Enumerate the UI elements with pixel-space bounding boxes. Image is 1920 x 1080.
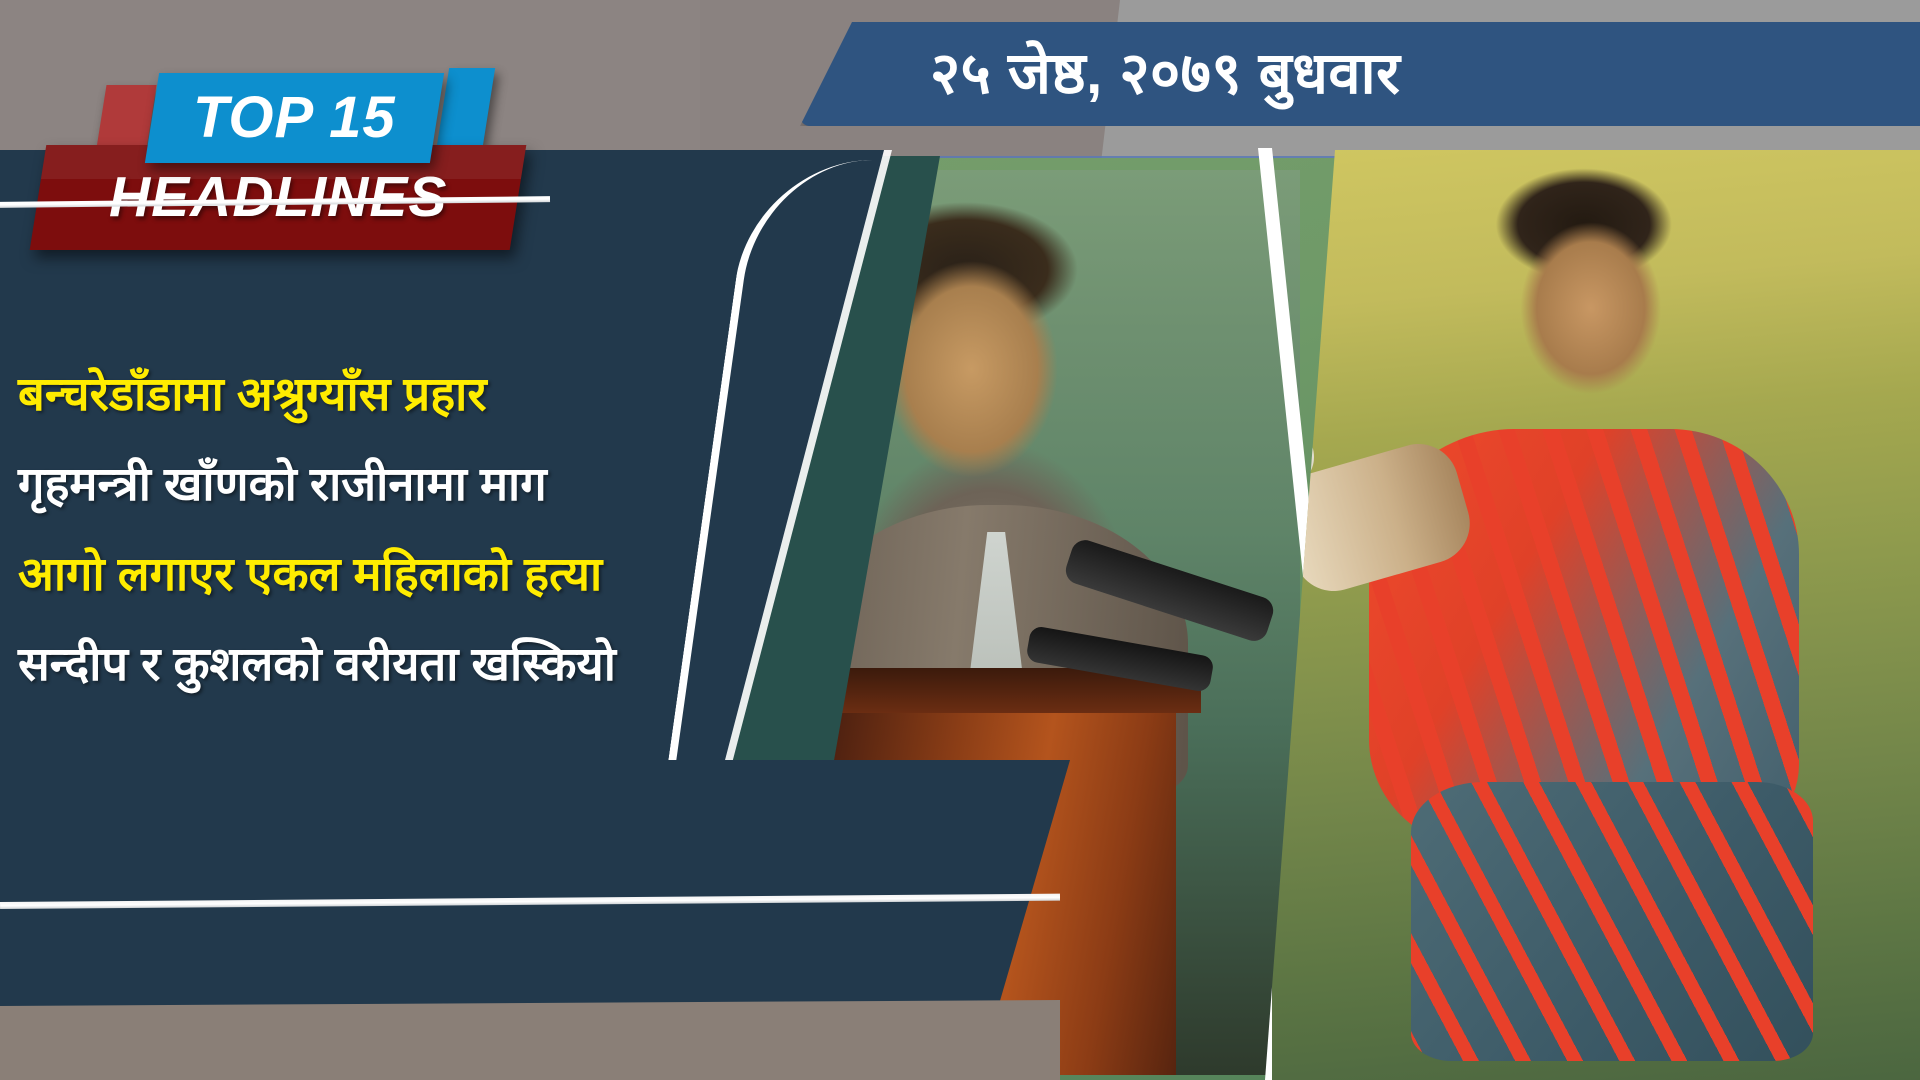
headline-list: बन्चरेडाँडामा अश्रुग्याँस प्रहार गृहमन्त… — [18, 370, 838, 730]
cricketer-bowling-photo — [1265, 150, 1920, 1080]
headline-item-1: बन्चरेडाँडामा अश्रुग्याँस प्रहार — [18, 370, 838, 418]
headline-item-2: गृहमन्त्री खाँणको राजीनामा माग — [18, 460, 838, 508]
cricketer-shorts — [1411, 782, 1813, 1061]
date-text: २५ जेष्ठ, २०७९ बुधवार — [930, 45, 1400, 103]
date-ribbon: २५ जेष्ठ, २०७९ बुधवार — [800, 22, 1920, 126]
top15-banner: TOP 15 — [145, 73, 444, 163]
top15-banner-label: TOP 15 — [193, 89, 396, 147]
footer-band — [0, 1000, 1060, 1080]
news-headline-graphic: बन्चरेडाँडामा अश्रुग्याँस प्रहार गृहमन्त… — [0, 0, 1920, 1080]
top15-headlines-badge: HEADLINES TOP 15 — [0, 40, 680, 300]
headline-item-4: सन्दीप र कुशलको वरीयता खस्कियो — [18, 640, 838, 688]
headline-item-3: आगो लगाएर एकल महिलाको हत्या — [18, 550, 838, 598]
badge-blue-accent-block — [437, 68, 495, 146]
